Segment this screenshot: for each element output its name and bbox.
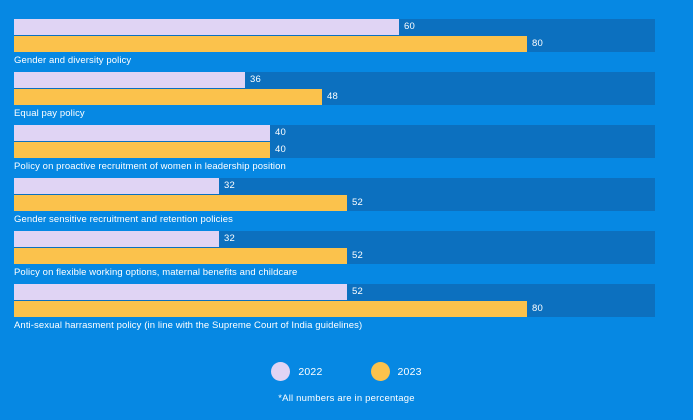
legend-item-2023[interactable]: 2023 bbox=[371, 362, 422, 381]
bar-value-label-2023: 40 bbox=[275, 142, 286, 158]
legend-item-2022[interactable]: 2022 bbox=[271, 362, 322, 381]
bar-2023[interactable] bbox=[14, 89, 322, 105]
bar-value-label-2022: 36 bbox=[250, 72, 261, 88]
bar-value-label-2023: 48 bbox=[327, 89, 338, 105]
bar-2023[interactable] bbox=[14, 142, 270, 158]
bar-value-label-2022: 52 bbox=[352, 284, 363, 300]
horizontal-bar-chart: 6080Gender and diversity policy3648Equal… bbox=[0, 0, 693, 420]
legend-swatch-2023-icon bbox=[371, 362, 390, 381]
category-label: Anti-sexual harrasment policy (in line w… bbox=[14, 319, 362, 332]
bar-value-label-2023: 80 bbox=[532, 36, 543, 52]
bar-value-label-2022: 32 bbox=[224, 178, 235, 194]
bar-value-label-2022: 40 bbox=[275, 125, 286, 141]
bar-value-label-2023: 80 bbox=[532, 301, 543, 317]
bar-2022[interactable] bbox=[14, 231, 219, 247]
category-label: Gender sensitive recruitment and retenti… bbox=[14, 213, 233, 226]
bar-value-label-2023: 52 bbox=[352, 195, 363, 211]
bar-2023[interactable] bbox=[14, 248, 347, 264]
chart-legend: 2022 2023 bbox=[0, 362, 693, 381]
bar-value-label-2023: 52 bbox=[352, 248, 363, 264]
bar-value-label-2022: 32 bbox=[224, 231, 235, 247]
category-label: Equal pay policy bbox=[14, 107, 85, 120]
category-label: Policy on proactive recruitment of women… bbox=[14, 160, 286, 173]
legend-swatch-2022-icon bbox=[271, 362, 290, 381]
bar-2022[interactable] bbox=[14, 284, 347, 300]
bar-2023[interactable] bbox=[14, 195, 347, 211]
bar-2022[interactable] bbox=[14, 125, 270, 141]
bar-2022[interactable] bbox=[14, 72, 245, 88]
category-label: Policy on flexible working options, mate… bbox=[14, 266, 297, 279]
chart-footnote: *All numbers are in percentage bbox=[0, 393, 693, 404]
bar-2022[interactable] bbox=[14, 178, 219, 194]
bar-2023[interactable] bbox=[14, 36, 527, 52]
legend-label-2023: 2023 bbox=[398, 366, 422, 378]
legend-label-2022: 2022 bbox=[298, 366, 322, 378]
category-label: Gender and diversity policy bbox=[14, 54, 131, 67]
bar-2023[interactable] bbox=[14, 301, 527, 317]
bar-value-label-2022: 60 bbox=[404, 19, 415, 35]
bar-2022[interactable] bbox=[14, 19, 399, 35]
